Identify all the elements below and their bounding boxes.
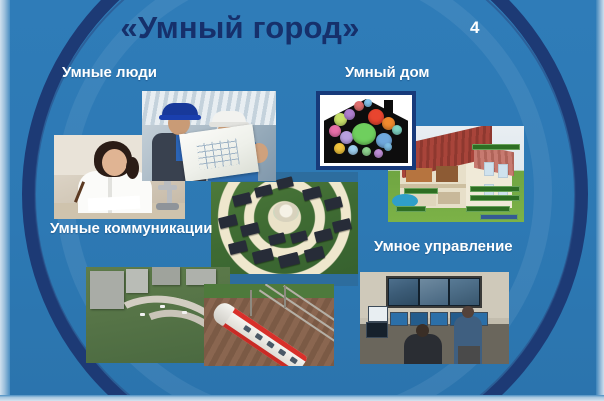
image-high-speed-train	[204, 284, 334, 366]
house-callout-label	[470, 186, 520, 192]
train-window	[266, 341, 275, 349]
house-callout-label	[466, 206, 510, 212]
video-wall-panel	[450, 279, 479, 305]
slide-number: 4	[470, 18, 479, 38]
city-building	[186, 269, 216, 285]
infographic-bubble	[392, 125, 402, 135]
aerial-roof	[276, 176, 294, 190]
seated-operator-body	[404, 334, 442, 364]
left-edge-strip	[0, 0, 10, 401]
house-furniture	[438, 192, 460, 204]
infographic-bubble	[334, 143, 345, 154]
infographic-bubble	[348, 145, 358, 155]
house-window	[498, 164, 508, 178]
operator-monitor	[390, 312, 408, 326]
blueprint-sheet	[179, 124, 259, 181]
train-window	[255, 333, 264, 341]
notebook-page	[88, 196, 141, 212]
operator-monitor	[366, 322, 388, 338]
standing-operator-head	[462, 306, 474, 318]
video-wall-panel	[389, 279, 418, 305]
aerial-roof	[314, 228, 333, 243]
house-room-upper-left	[406, 168, 432, 182]
aerial-central-plaza	[273, 202, 299, 222]
operator-monitor	[368, 306, 388, 322]
standing-operator-legs	[458, 346, 480, 364]
infographic-center-bubble	[352, 123, 376, 145]
train-window	[278, 348, 287, 356]
city-building	[90, 271, 124, 309]
house-callout-label	[470, 195, 520, 201]
catenary-pole	[250, 290, 252, 316]
slide-title: «Умный город»	[0, 10, 480, 46]
scientist-face	[102, 149, 127, 176]
label-smart-people: Умные люди	[62, 64, 157, 81]
house-room-upper-right	[436, 166, 458, 182]
aerial-roof	[324, 196, 343, 211]
aerial-roof	[278, 252, 300, 268]
car	[160, 305, 165, 308]
blue-hard-hat-brim	[159, 115, 201, 120]
city-building	[152, 267, 180, 285]
infographic-canvas	[320, 95, 412, 166]
label-smart-management: Умное управление	[374, 238, 513, 255]
aerial-roof	[332, 218, 352, 233]
car	[182, 311, 187, 314]
aerial-roof	[304, 246, 325, 262]
aerial-roof	[302, 186, 322, 201]
house-callout-label	[472, 144, 520, 150]
train-window	[289, 356, 298, 364]
bottom-edge-strip	[0, 395, 604, 401]
house-callout-label	[404, 188, 438, 194]
aerial-roof	[268, 232, 286, 246]
aerial-roof	[252, 248, 274, 264]
image-engineers-blueprints	[142, 91, 276, 181]
aerial-roof	[232, 192, 252, 207]
right-edge-strip	[596, 0, 604, 401]
train-window	[243, 325, 252, 333]
label-smart-communications: Умные коммуникации	[50, 219, 220, 239]
infographic-bubble	[362, 147, 371, 156]
presentation-slide: «Умный город» 4 Умные люди Умный дом Умн…	[0, 0, 604, 401]
infographic-bubble	[364, 99, 372, 107]
infographic-bubble	[344, 109, 355, 120]
infographic-bubble	[374, 149, 383, 158]
catenary-pole	[284, 286, 286, 308]
image-smart-home-infographic	[316, 91, 416, 170]
scientist-ponytail	[126, 157, 139, 179]
house-callout-label	[480, 214, 518, 220]
video-wall-panel	[420, 279, 449, 305]
aerial-roof	[218, 214, 238, 229]
infographic-bubble	[354, 101, 364, 111]
car	[140, 313, 145, 316]
house-callout-label	[396, 206, 426, 212]
aerial-roof	[254, 184, 273, 198]
city-building	[126, 269, 148, 293]
aerial-roof	[290, 230, 308, 244]
seated-operator-head	[416, 324, 429, 337]
image-traffic-control-room	[360, 272, 509, 364]
aerial-roof	[228, 240, 248, 255]
operator-monitor	[430, 312, 448, 326]
house-window	[484, 162, 494, 176]
video-wall	[386, 276, 482, 308]
image-aerial-circular-town	[211, 172, 358, 286]
aerial-roof	[240, 222, 260, 237]
label-smart-home: Умный дом	[345, 64, 430, 81]
infographic-bubble	[384, 143, 392, 151]
